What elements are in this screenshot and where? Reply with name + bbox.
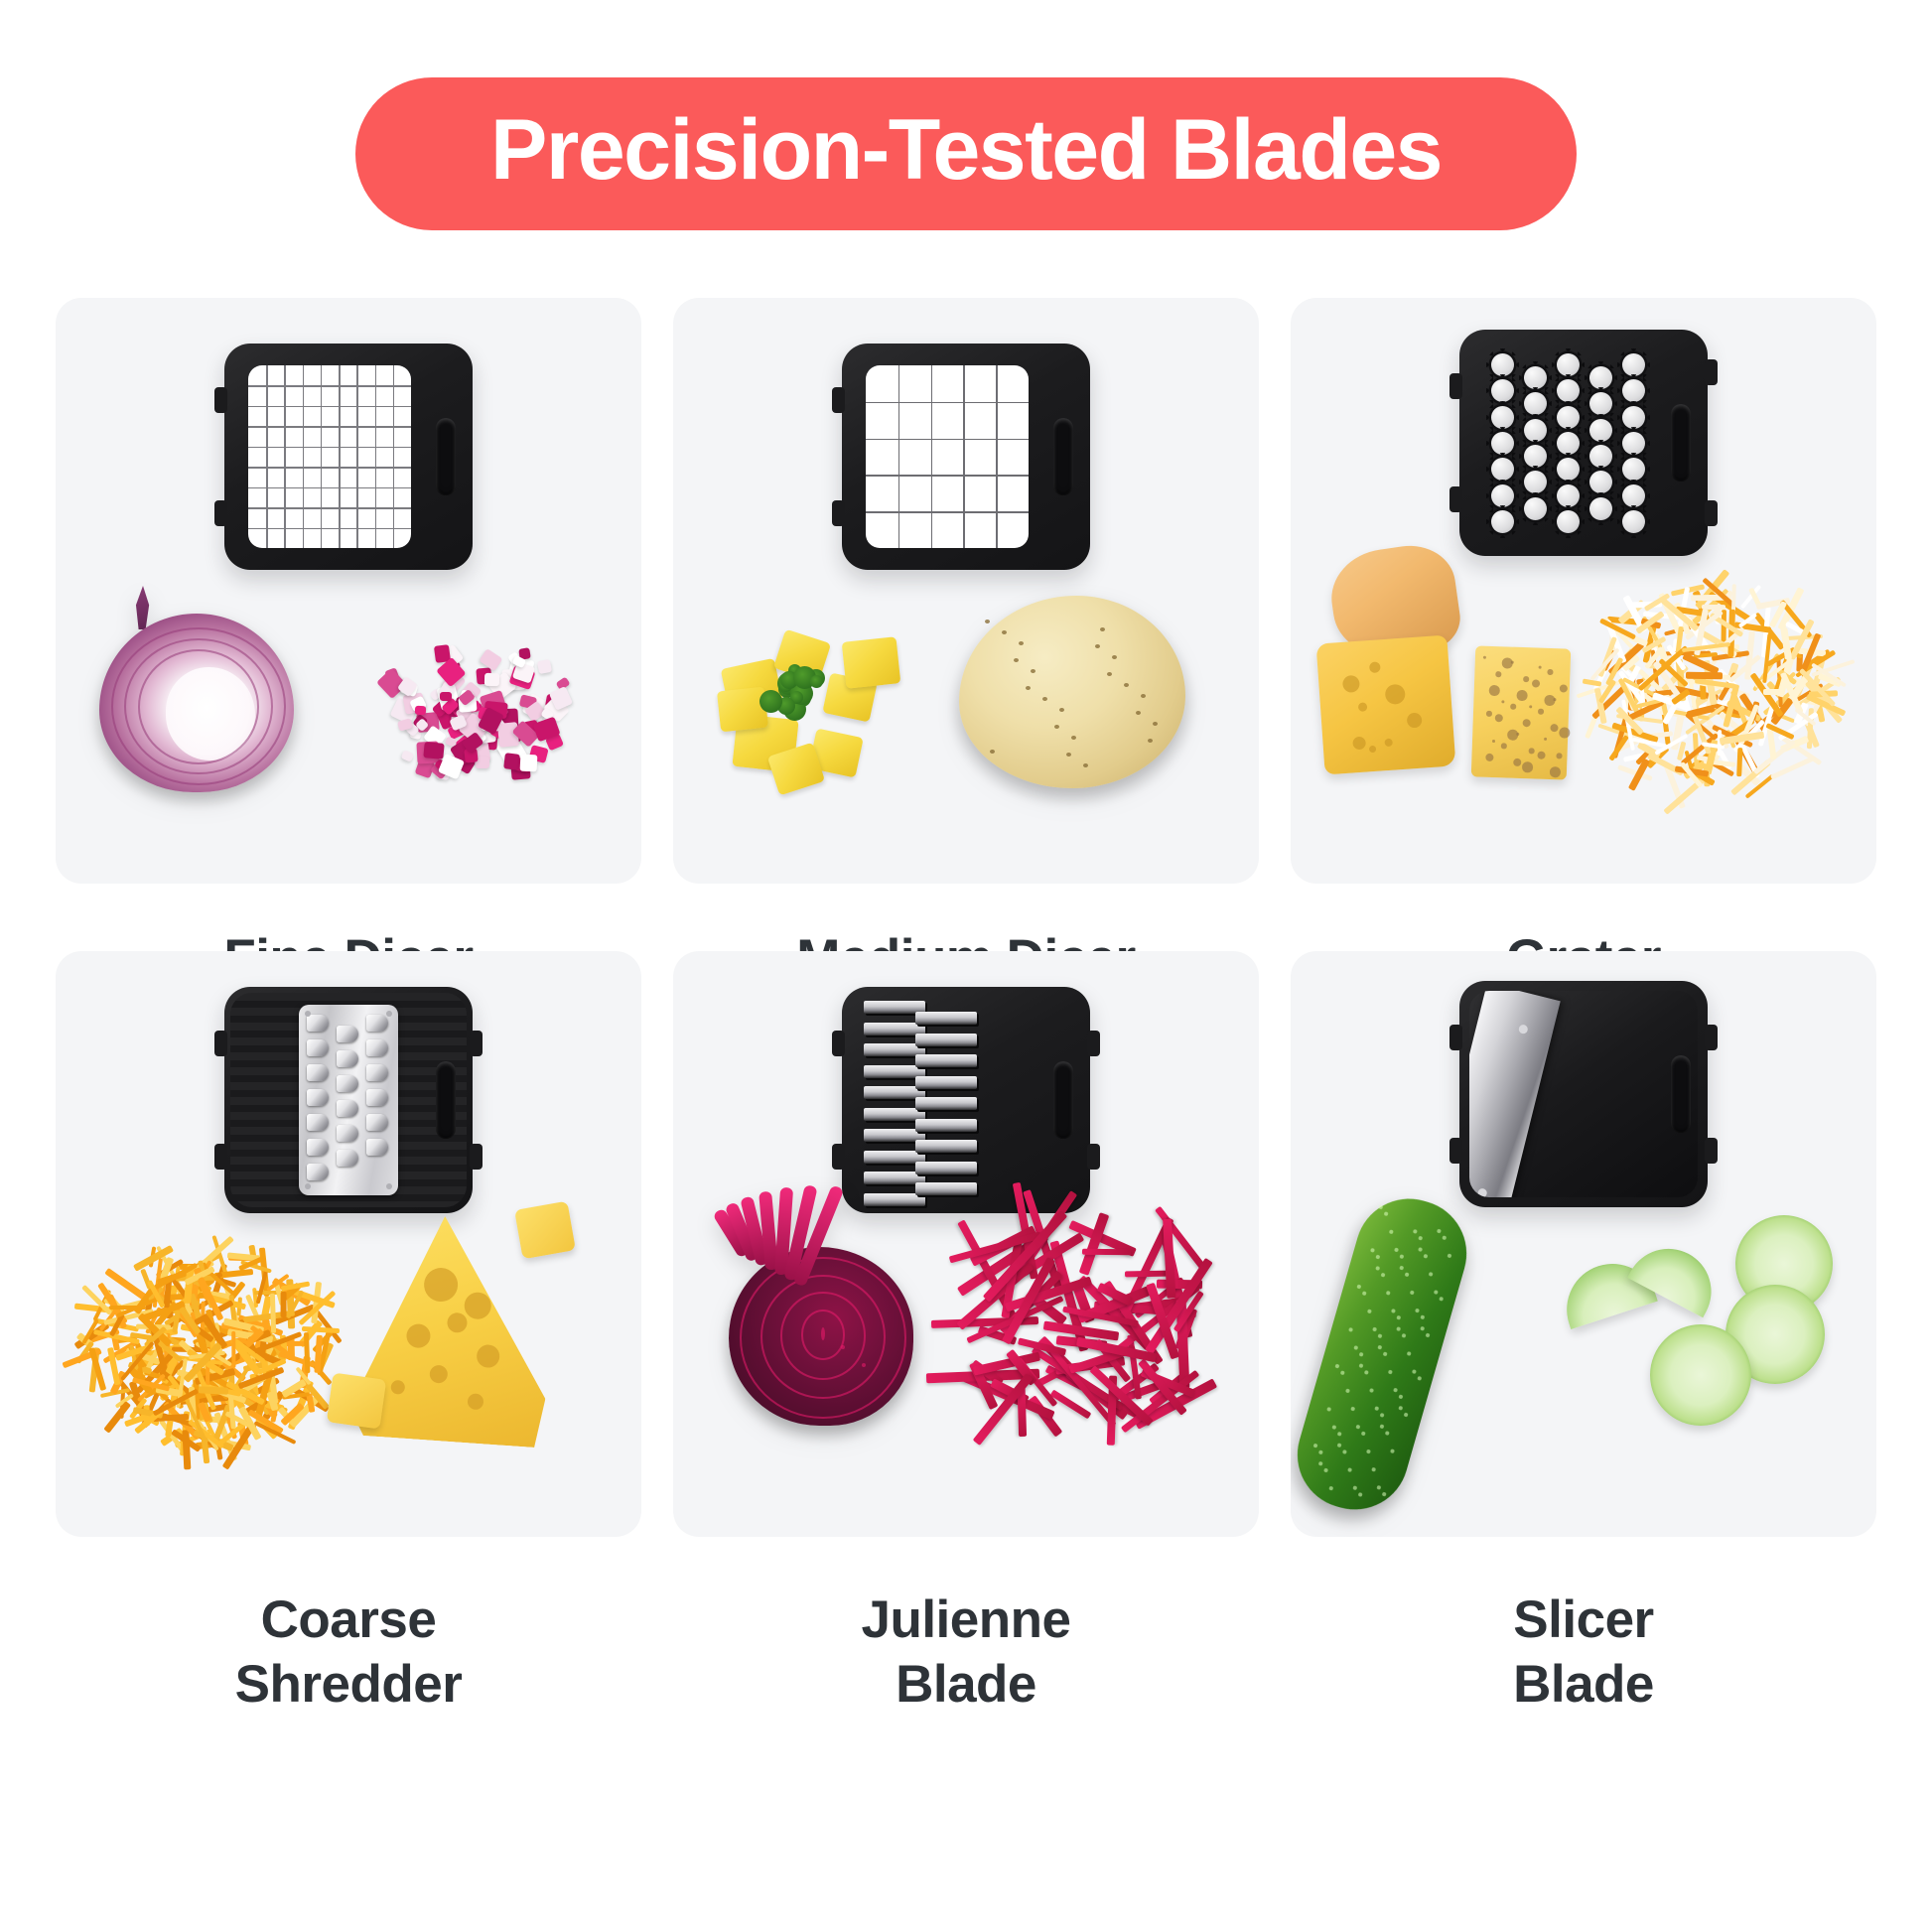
cucumber-bump xyxy=(1323,1468,1328,1473)
cheese-hole xyxy=(1369,661,1381,673)
grater-hole xyxy=(1491,406,1514,429)
cheese-speck xyxy=(1507,730,1518,741)
potato-eye xyxy=(985,620,990,623)
cheese-shred xyxy=(231,1331,235,1368)
grater-hole xyxy=(1491,510,1514,533)
card-coarse-shredder[interactable]: Coarse Shredder xyxy=(56,951,641,1717)
blade-handle-slot xyxy=(1671,404,1691,482)
cucumber-bump xyxy=(1399,1254,1404,1259)
grater-hole xyxy=(1524,445,1547,468)
julienne-strip xyxy=(915,1119,977,1132)
grater-hole xyxy=(1622,379,1645,402)
title-pill: Precision-Tested Blades xyxy=(355,77,1577,230)
shredder-tooth xyxy=(337,1150,358,1167)
diced-red-onion-pile xyxy=(349,616,598,806)
infographic-page: Precision-Tested Blades xyxy=(0,0,1932,1932)
spiced-cheese-slice xyxy=(1471,645,1572,779)
julienne-strip xyxy=(915,1162,977,1174)
cucumber-bump xyxy=(1326,1407,1331,1412)
card-grater[interactable]: Grater xyxy=(1291,298,1876,992)
cucumber-bump xyxy=(1379,1424,1384,1429)
cucumber-bump xyxy=(1372,1327,1377,1332)
grater-hole xyxy=(1622,458,1645,481)
shredded-cheddar-pile xyxy=(69,1237,344,1461)
beet-julienne-strip xyxy=(1125,1270,1170,1277)
card-fine-dicer[interactable]: Fine Dicer xyxy=(56,298,641,992)
shredder-tooth xyxy=(366,1139,388,1156)
cucumber-bump xyxy=(1375,1255,1380,1260)
rivet xyxy=(386,1011,392,1017)
cucumber-bump xyxy=(1396,1315,1401,1320)
cucumber-bump xyxy=(1391,1309,1396,1313)
parsley-garnish xyxy=(810,675,823,688)
grater-hole xyxy=(1491,458,1514,481)
cheese-hole xyxy=(467,1393,483,1410)
cheese-speck xyxy=(1550,724,1558,732)
cheese-speck xyxy=(1502,657,1513,668)
cucumber-bump xyxy=(1417,1376,1422,1381)
shredded-cheese-pile xyxy=(1579,574,1849,810)
cheese-hole xyxy=(1369,746,1376,753)
cucumber-bump xyxy=(1426,1332,1431,1337)
cucumber-bump xyxy=(1355,1425,1360,1430)
cheese-hole xyxy=(1358,702,1368,712)
cucumber-bump xyxy=(1382,1492,1387,1497)
grater-hole xyxy=(1557,510,1580,533)
cheese-shred xyxy=(270,1294,277,1333)
shredder-tooth xyxy=(307,1089,329,1106)
card-image-fine-dicer xyxy=(56,298,641,884)
page-title: Precision-Tested Blades xyxy=(490,107,1442,195)
cucumber-bump xyxy=(1376,1485,1381,1490)
grater-hole xyxy=(1589,419,1612,442)
grater-hole xyxy=(1491,353,1514,376)
blade-handle-slot xyxy=(436,1061,456,1139)
potato-eye xyxy=(1019,641,1024,645)
cucumber-bump xyxy=(1390,1449,1395,1453)
coarse-shredder-blade-icon xyxy=(224,987,473,1213)
potato-eye xyxy=(990,750,995,754)
potato-eye xyxy=(1054,725,1059,729)
cheese-hole xyxy=(423,1267,459,1303)
grater-hole xyxy=(1589,392,1612,415)
cheese-shred xyxy=(1763,689,1782,695)
potato-eye xyxy=(1095,644,1100,648)
cucumber-bump xyxy=(1377,1333,1382,1338)
julienne-strip xyxy=(915,1034,977,1046)
shredder-tooth xyxy=(337,1075,358,1092)
rivet xyxy=(386,1183,392,1189)
shredder-tooth xyxy=(366,1015,388,1032)
cucumber-bump xyxy=(1402,1333,1407,1338)
cucumber-bump xyxy=(1407,1351,1412,1356)
onion-dice xyxy=(440,692,452,701)
grater-hole xyxy=(1524,366,1547,389)
header: Precision-Tested Blades xyxy=(0,77,1932,230)
potato-eye xyxy=(1153,722,1158,726)
cucumber-bump xyxy=(1383,1351,1388,1356)
potato-eye xyxy=(1141,694,1146,698)
cheese-speck xyxy=(1492,740,1495,743)
shredder-tooth xyxy=(366,1089,388,1106)
shredder-tooth xyxy=(307,1015,329,1032)
onion-dice xyxy=(401,750,415,761)
grater-hole xyxy=(1557,484,1580,507)
cucumber-bump xyxy=(1418,1247,1423,1252)
cucumber-bump xyxy=(1437,1229,1442,1234)
cheese-hole xyxy=(1407,713,1423,729)
potato-eye xyxy=(1026,686,1031,690)
swiss-cheese-block xyxy=(1316,635,1456,775)
cheese-cube-small xyxy=(514,1201,576,1260)
cucumber-bump xyxy=(1404,1413,1409,1418)
cheese-cube-small xyxy=(327,1372,386,1429)
cucumber-bump xyxy=(1420,1314,1425,1319)
cheese-shred xyxy=(1766,728,1776,759)
cucumber-bump xyxy=(1364,1370,1369,1375)
card-image-medium-dicer xyxy=(673,298,1259,884)
card-julienne-blade[interactable]: Julienne Blade xyxy=(673,951,1259,1717)
grater-hole xyxy=(1622,510,1645,533)
cheese-speck xyxy=(1538,709,1544,715)
cucumber-bump xyxy=(1361,1431,1366,1436)
julienne-strip xyxy=(915,1054,977,1067)
cucumber-bump xyxy=(1337,1443,1342,1448)
potato-eye xyxy=(1071,736,1076,740)
cucumber-bump xyxy=(1367,1309,1372,1313)
cheese-speck xyxy=(1544,738,1547,741)
cheese-speck xyxy=(1544,695,1555,706)
cheese-speck xyxy=(1529,748,1535,754)
cucumber-bump xyxy=(1345,1388,1350,1393)
slicer-diagonal-blade-icon xyxy=(1459,981,1708,1207)
cucumber-bump xyxy=(1340,1370,1345,1375)
onion-dice xyxy=(537,659,552,674)
cheese-speck xyxy=(1501,743,1507,749)
rivet xyxy=(305,1011,311,1017)
cucumber-bump xyxy=(1337,1432,1342,1437)
card-image-slicer-blade xyxy=(1291,951,1876,1537)
potato-eye xyxy=(1148,739,1153,743)
diced-potato-cubes-with-parsley xyxy=(717,625,925,794)
whole-cucumber xyxy=(1291,1186,1479,1522)
cheese-hole xyxy=(476,1344,500,1369)
grater-hole xyxy=(1622,432,1645,455)
cucumber-bump xyxy=(1439,1297,1444,1302)
cucumber-bump xyxy=(1412,1369,1417,1374)
cheese-speck xyxy=(1556,753,1562,759)
cheese-hole xyxy=(1385,684,1406,705)
cheese-speck xyxy=(1559,727,1570,738)
cheese-speck xyxy=(1532,679,1540,687)
cucumber-bump xyxy=(1371,1467,1376,1472)
potato-eye xyxy=(1066,753,1071,757)
cucumber-bump xyxy=(1358,1492,1363,1497)
whole-potato xyxy=(959,596,1185,788)
cucumber-bump xyxy=(1447,1253,1451,1258)
shredder-tooth xyxy=(337,1100,358,1117)
cheese-shred xyxy=(199,1386,228,1394)
cheese-hole xyxy=(429,1365,448,1384)
shredder-tooth xyxy=(307,1139,329,1156)
blade-grid-row-2: Coarse Shredder Julienne Blade xyxy=(56,913,1876,1717)
potato-cube xyxy=(842,636,901,689)
potato-eye xyxy=(1124,683,1129,687)
cheese-shred xyxy=(281,1292,287,1317)
whole-beet-with-stalks xyxy=(729,1247,913,1426)
grater-hole xyxy=(1557,432,1580,455)
cheese-hole xyxy=(447,1312,468,1333)
onion-dice xyxy=(415,706,426,715)
cucumber-bump xyxy=(1423,1254,1428,1259)
cucumber-bump xyxy=(1385,1431,1390,1436)
cheese-speck xyxy=(1483,656,1486,659)
cucumber-bump xyxy=(1434,1290,1439,1295)
cucumber-bump xyxy=(1350,1407,1355,1412)
cucumber-bump xyxy=(1370,1248,1375,1253)
potato-eye xyxy=(1059,708,1064,712)
cucumber-bump xyxy=(1415,1309,1420,1313)
cucumber-bump xyxy=(1369,1388,1374,1393)
card-medium-dicer[interactable]: Medium Dicer xyxy=(673,298,1259,992)
cheese-speck xyxy=(1516,690,1527,701)
julienne-strip xyxy=(915,1097,977,1110)
onion-dice xyxy=(484,673,500,687)
julienne-beet-strips xyxy=(943,1193,1227,1451)
julienne-strip xyxy=(915,1076,977,1089)
blade-handle-slot xyxy=(1053,418,1073,495)
card-image-julienne-blade xyxy=(673,951,1259,1537)
grater-hole xyxy=(1622,353,1645,376)
cucumber-bump xyxy=(1347,1467,1352,1472)
cucumber-bump xyxy=(1380,1413,1385,1418)
potato-eye xyxy=(1014,658,1019,662)
cucumber-bump xyxy=(1366,1449,1371,1454)
cheese-shred xyxy=(1686,672,1723,679)
potato-eye xyxy=(1107,672,1112,676)
grater-hole xyxy=(1557,379,1580,402)
shredder-tooth xyxy=(337,1050,358,1067)
cheese-hole xyxy=(406,1323,432,1349)
blade-handle-slot xyxy=(436,418,456,495)
grater-hole xyxy=(1491,379,1514,402)
cucumber-bump xyxy=(1396,1326,1401,1331)
slicer-metal-blade xyxy=(1469,991,1561,1197)
cucumber-bump xyxy=(1384,1211,1389,1216)
cucumber-bump xyxy=(1394,1247,1399,1252)
julienne-strip xyxy=(915,1140,977,1153)
blade-handle-slot xyxy=(1053,1061,1073,1139)
shredder-tooth xyxy=(366,1114,388,1131)
cheese-hole xyxy=(1342,675,1360,693)
cucumber-bump xyxy=(1386,1291,1391,1296)
cheese-speck xyxy=(1560,684,1568,692)
cucumber-bump xyxy=(1362,1291,1367,1296)
onion-dice xyxy=(503,753,520,770)
shredder-tooth xyxy=(307,1114,329,1131)
grater-hole xyxy=(1557,458,1580,481)
blade-grid-row-1: Fine Dicer Medium Dicer xyxy=(56,298,1876,992)
cheese-speck xyxy=(1522,761,1533,772)
grater-hole xyxy=(1524,497,1547,520)
cucumber-bump xyxy=(1420,1326,1425,1331)
cucumber-round-slices xyxy=(1650,1324,1751,1426)
cheese-speck xyxy=(1495,714,1503,722)
cheese-speck xyxy=(1529,705,1532,708)
cucumber-bump xyxy=(1342,1449,1347,1454)
cucumber-bump xyxy=(1399,1266,1404,1271)
grater-hole xyxy=(1589,497,1612,520)
potato-eye xyxy=(1100,627,1105,631)
cheese-shred xyxy=(1770,757,1815,780)
cucumber-bump xyxy=(1405,1272,1410,1277)
cucumber-bump xyxy=(1378,1204,1383,1209)
cucumber-bump xyxy=(1429,1272,1434,1277)
cucumber-bump xyxy=(1398,1406,1403,1411)
card-label-coarse-shredder: Coarse Shredder xyxy=(235,1588,463,1717)
card-label-slicer-blade: Slicer Blade xyxy=(1513,1588,1654,1717)
cucumber-bump xyxy=(1331,1425,1336,1430)
card-image-grater xyxy=(1291,298,1876,884)
potato-eye xyxy=(1042,697,1047,701)
cucumber-bump xyxy=(1413,1229,1418,1234)
cheese-speck xyxy=(1550,766,1561,777)
shredder-tooth xyxy=(337,1026,358,1042)
card-slicer-blade[interactable]: Slicer Blade xyxy=(1291,951,1876,1717)
cucumber-bump xyxy=(1418,1236,1423,1241)
cucumber-bump xyxy=(1328,1486,1333,1491)
cheese-hole xyxy=(464,1292,492,1320)
potato-eye xyxy=(1002,630,1007,634)
cheese-hole xyxy=(1384,739,1393,748)
cucumber-bump xyxy=(1389,1229,1394,1234)
cucumber-bump xyxy=(1375,1266,1380,1271)
beet-ring xyxy=(862,1363,866,1367)
beet-julienne-strip xyxy=(1082,1249,1132,1256)
grater-hole xyxy=(1622,406,1645,429)
cucumber-bump xyxy=(1348,1327,1353,1332)
card-image-coarse-shredder xyxy=(56,951,641,1537)
cucumber-bump xyxy=(1442,1235,1447,1240)
cheese-speck xyxy=(1523,676,1529,682)
beet-ring xyxy=(821,1327,825,1340)
onion-dice xyxy=(424,742,445,759)
card-label-julienne-blade: Julienne Blade xyxy=(861,1588,1070,1717)
cheese-speck xyxy=(1523,719,1531,727)
cucumber-bump xyxy=(1377,1345,1382,1350)
grater-hole xyxy=(1557,406,1580,429)
grater-hole xyxy=(1589,445,1612,468)
grater-hole xyxy=(1524,419,1547,442)
cucumber-bump xyxy=(1358,1363,1363,1368)
cheese-speck xyxy=(1489,685,1500,696)
cucumber-bump xyxy=(1398,1394,1403,1399)
shredder-tooth xyxy=(307,1039,329,1056)
potato-cube xyxy=(717,687,768,733)
grater-hole xyxy=(1524,392,1547,415)
cucumber-bump xyxy=(1313,1444,1318,1449)
shredder-tooth xyxy=(307,1164,329,1180)
cheese-speck xyxy=(1537,752,1545,759)
cucumber-bump xyxy=(1359,1352,1364,1357)
potato-eye xyxy=(1031,669,1035,673)
cucumber-bump xyxy=(1334,1364,1339,1369)
cucumber-bump xyxy=(1356,1285,1361,1290)
cucumber-bump xyxy=(1352,1485,1357,1490)
grater-hole xyxy=(1557,353,1580,376)
cheese-speck xyxy=(1486,711,1492,717)
shredder-tooth xyxy=(307,1064,329,1081)
red-onion-half xyxy=(99,614,294,792)
grater-hole xyxy=(1491,432,1514,455)
cucumber-bump xyxy=(1374,1406,1379,1411)
cheese-hole xyxy=(1352,737,1366,751)
cucumber-bump xyxy=(1381,1273,1386,1278)
grater-perforated-blade-icon xyxy=(1459,330,1708,556)
grater-hole xyxy=(1622,484,1645,507)
onion-dice xyxy=(519,754,536,771)
cheese-speck xyxy=(1495,671,1501,677)
cucumber-bump xyxy=(1318,1449,1323,1454)
cheese-hole xyxy=(390,1380,405,1395)
shredder-tooth xyxy=(366,1039,388,1056)
cucumber-bump xyxy=(1318,1461,1323,1466)
cheese-speck xyxy=(1547,669,1553,675)
grater-hole xyxy=(1491,484,1514,507)
cheese-speck xyxy=(1485,754,1493,761)
cheese-speck xyxy=(1501,700,1504,703)
shredder-tooth xyxy=(366,1064,388,1081)
cucumber-bump xyxy=(1353,1345,1358,1350)
cheese-speck xyxy=(1513,759,1521,766)
cheese-speck xyxy=(1539,666,1542,669)
cucumber-bump xyxy=(1410,1290,1415,1295)
rivet xyxy=(305,1183,311,1189)
julienne-strip xyxy=(915,1012,977,1025)
fine-dicer-grid-blade-icon xyxy=(224,344,473,570)
cucumber-bump xyxy=(1388,1370,1393,1375)
grater-hole xyxy=(1589,366,1612,389)
cucumber-bump xyxy=(1393,1388,1398,1393)
grater-hole xyxy=(1524,471,1547,493)
cheese-shred xyxy=(304,1332,310,1373)
julienne-strip-blade-icon xyxy=(842,987,1090,1213)
grater-hole xyxy=(1589,471,1612,493)
shredder-tooth xyxy=(337,1125,358,1142)
potato-eye xyxy=(1136,711,1141,715)
cheese-speck xyxy=(1510,704,1516,710)
medium-dicer-grid-blade-icon xyxy=(842,344,1090,570)
potato-eye xyxy=(1112,655,1117,659)
potato-eye xyxy=(1083,763,1088,767)
